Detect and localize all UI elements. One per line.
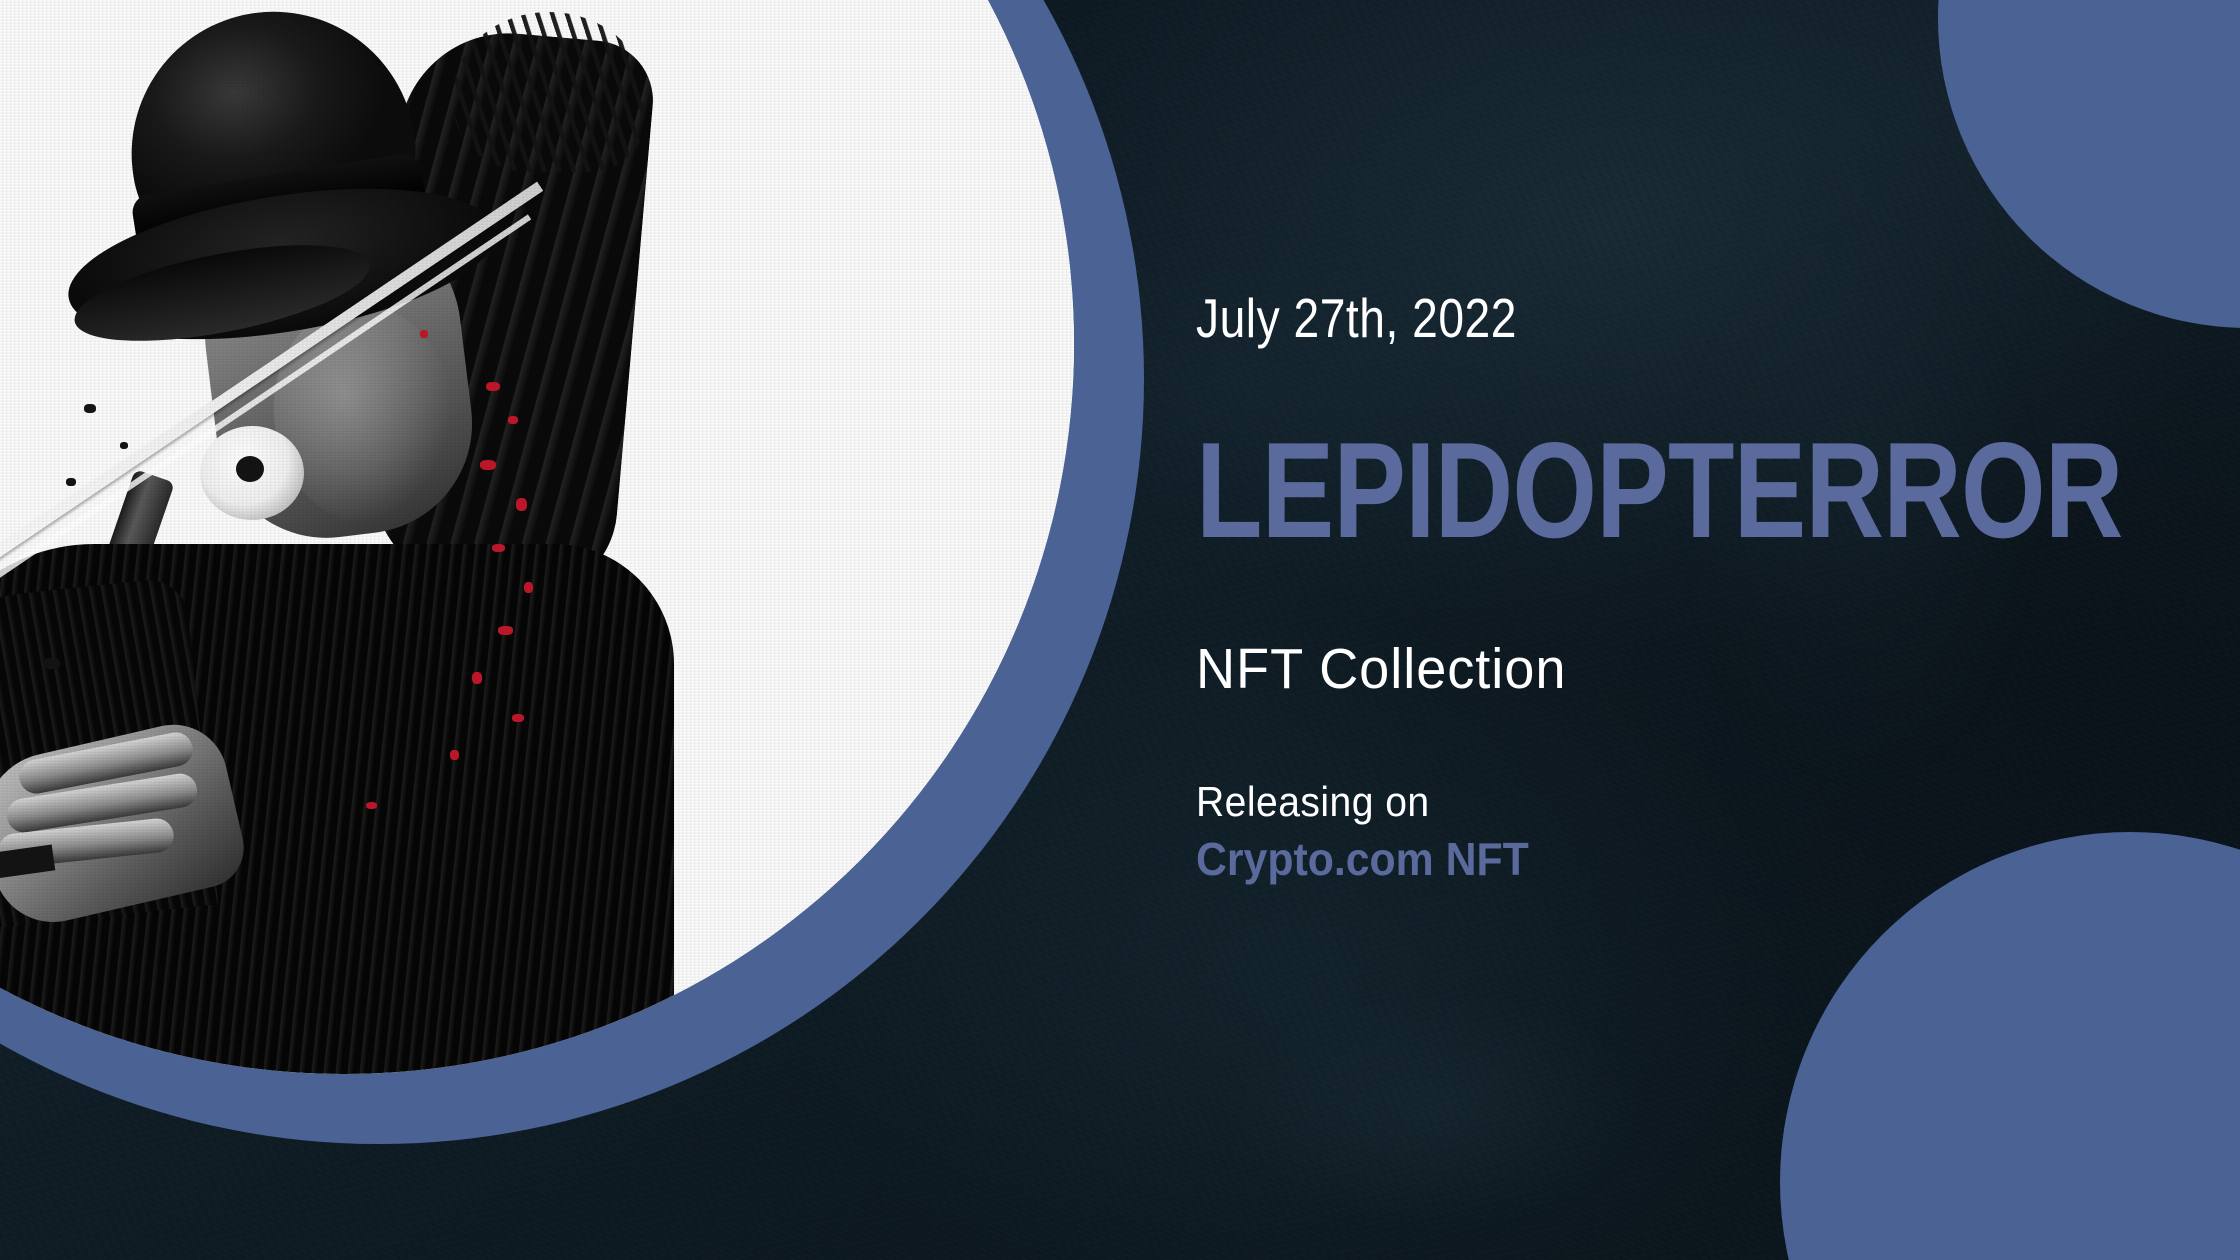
red-speckle: [508, 416, 518, 424]
red-speckle: [486, 382, 500, 391]
photo-speck: [44, 658, 60, 669]
artwork-photo-stage: [0, 0, 1160, 1260]
platform-name: Crypto.com NFT: [1196, 832, 1529, 886]
photo-speck: [66, 478, 76, 486]
collection-title: LEPIDOPTERROR: [1196, 422, 2123, 558]
artist-photo-disc: [0, 0, 1074, 1074]
release-date: July 27th, 2022: [1196, 286, 1517, 350]
text-content-column: July 27th, 2022 LEPIDOPTERROR NFT Collec…: [1196, 0, 2196, 1260]
red-speckle: [420, 330, 428, 338]
red-speckle: [516, 498, 527, 511]
red-speckle: [472, 672, 482, 684]
red-speckle: [492, 544, 505, 552]
violin-chinrest-hole: [236, 456, 264, 482]
red-speckle: [450, 750, 459, 760]
dreadlock-wisps: [454, 12, 644, 172]
collection-subtitle: NFT Collection: [1196, 636, 1566, 702]
artist-photo: [0, 0, 1074, 1074]
red-speckle: [366, 802, 377, 809]
releasing-on-label: Releasing on: [1196, 778, 1430, 826]
red-speckle: [524, 582, 533, 593]
red-speckle: [512, 714, 524, 722]
photo-speck: [120, 442, 128, 449]
photo-speck: [84, 404, 96, 413]
red-speckle: [480, 460, 496, 470]
nft-announcement-banner: July 27th, 2022 LEPIDOPTERROR NFT Collec…: [0, 0, 2240, 1260]
red-speckle: [498, 626, 513, 635]
